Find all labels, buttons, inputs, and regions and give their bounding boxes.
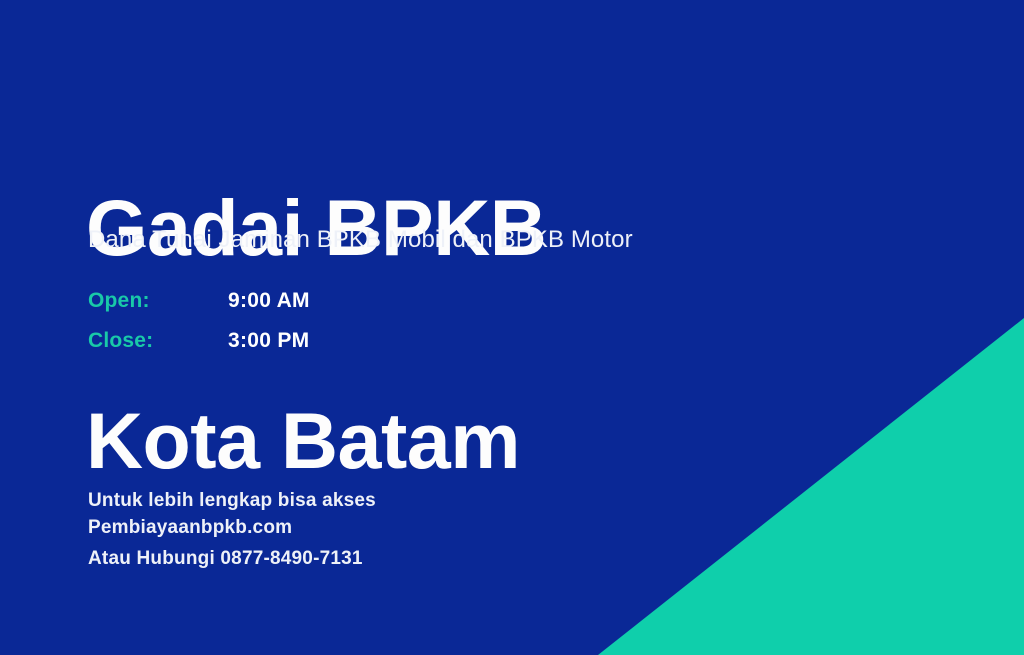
business-hours: Open: 9:00 AM Close: 3:00 PM	[88, 289, 310, 369]
hours-row-close: Close: 3:00 PM	[88, 329, 310, 369]
headline-line-2: Kota Batam	[86, 405, 946, 476]
open-label: Open:	[88, 289, 228, 313]
open-time-value: 9:00 AM	[228, 289, 310, 313]
website-url: Pembiayaanbpkb.com	[88, 514, 376, 541]
close-label: Close:	[88, 329, 228, 353]
hours-row-open: Open: 9:00 AM	[88, 289, 310, 329]
poster-canvas: Gadai BPKB Kota Batam Dana Tunai Jaminan…	[0, 0, 1024, 655]
website-callout-text: Untuk lebih lengkap bisa akses	[88, 487, 376, 514]
close-time-value: 3:00 PM	[228, 329, 309, 353]
website-callout: Untuk lebih lengkap bisa akses Pembiayaa…	[88, 487, 376, 541]
subtitle: Dana Tunai Jaminan BPKB Mobil dan BPKB M…	[88, 226, 633, 254]
poster-content: Gadai BPKB Kota Batam Dana Tunai Jaminan…	[0, 0, 1024, 655]
phone-contact-line: Atau Hubungi 0877-8490-7131	[88, 548, 363, 570]
